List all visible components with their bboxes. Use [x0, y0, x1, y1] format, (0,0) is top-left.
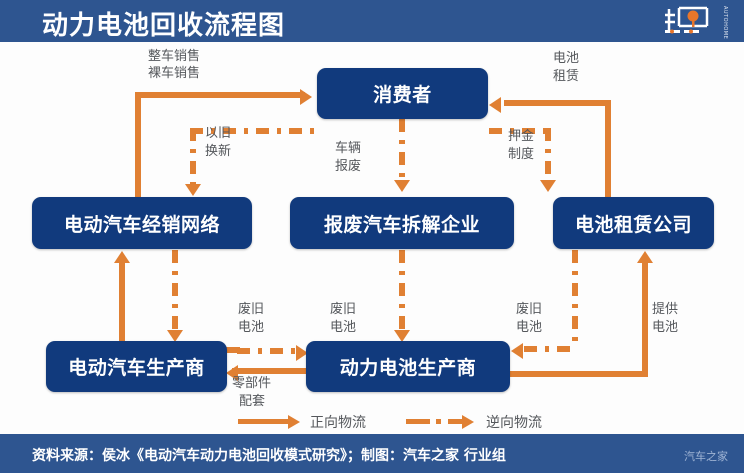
footer-bar: 资料来源：侯冰《电动汽车动力电池回收模式研究》；制图：汽车之家 行业组 汽车之家: [0, 434, 744, 473]
flowchart-canvas: 动力电池回收流程图: [0, 0, 744, 473]
label-waste-battery-a-line2: 电池: [238, 319, 264, 336]
legend: 正向物流 逆向物流: [238, 412, 558, 432]
logo-mark-icon: [664, 6, 712, 36]
label-waste-battery-b-line2: 电池: [330, 319, 356, 336]
edge-evmaker-to-dealer-vertical: [119, 262, 125, 344]
edge-dealer-to-consumer-arrowhead: [300, 89, 312, 105]
edge-waste-battery-b-arrowhead: [511, 343, 523, 359]
label-tradein-line1: 以旧: [205, 125, 231, 142]
node-consumer[interactable]: 消费者: [317, 68, 488, 119]
label-waste-battery-a-line1: 废旧: [238, 301, 264, 318]
edge-waste-battery-b-vertical: [572, 250, 578, 346]
edge-battery-lease-vertical: [605, 100, 611, 200]
edge-battery-lease-horizontal: [504, 100, 611, 106]
edge-tradein-arrowhead: [185, 184, 201, 196]
node-battery-manufacturer[interactable]: 动力电池生产商: [306, 341, 510, 392]
edge-evmaker-to-dealer-arrowhead: [114, 251, 130, 263]
edge-deposit-vertical: [545, 128, 551, 182]
edge-vehicle-scrap-arrowhead: [394, 180, 410, 192]
label-parts-supply-line2: 配套: [239, 393, 265, 410]
legend-reverse-label: 逆向物流: [486, 412, 542, 432]
label-waste-battery-c-line2: 电池: [516, 319, 542, 336]
edge-deposit-arrowhead: [540, 180, 556, 192]
page-title: 动力电池回收流程图: [42, 5, 285, 42]
legend-reverse-dot: [436, 419, 441, 424]
node-ev-manufacturer[interactable]: 电动汽车生产商: [46, 341, 227, 392]
label-waste-battery-c-line1: 废旧: [516, 301, 542, 318]
label-vehicle-sales-line2: 裸车销售: [148, 65, 200, 82]
label-tradein-line2: 换新: [205, 143, 231, 160]
node-dismantling-enterprise[interactable]: 报废汽车拆解企业: [290, 197, 514, 249]
edge-waste-battery-a-horizontal: [237, 348, 299, 354]
legend-forward-label: 正向物流: [310, 412, 366, 432]
label-deposit-line2: 制度: [508, 146, 534, 163]
edge-vehicle-scrap-vertical: [399, 119, 405, 181]
watermark-text: 汽车之家: [684, 448, 728, 464]
node-dealer-network[interactable]: 电动汽车经销网络: [32, 197, 252, 249]
autohome-logo: AUTOHOME: [664, 4, 726, 38]
logo-side-text: AUTOHOME: [722, 6, 728, 39]
legend-forward-arrowhead-icon: [288, 415, 300, 429]
label-deposit-line1: 押金: [508, 128, 534, 145]
label-vehicle-scrap-line2: 报废: [335, 158, 361, 175]
label-supply-battery-line2: 电池: [652, 319, 678, 336]
label-supply-battery-line1: 提供: [652, 301, 678, 318]
edge-dismantle-to-batmaker-vertical: [399, 250, 405, 332]
label-battery-lease-line1: 电池: [553, 50, 579, 67]
label-vehicle-sales-line1: 整车销售: [148, 48, 200, 65]
edge-supply-battery-horizontal: [510, 371, 648, 377]
edge-supply-battery-vertical: [642, 262, 648, 374]
label-parts-supply-line1: 零部件: [232, 375, 271, 392]
legend-reverse-dash-a: [406, 419, 430, 424]
label-vehicle-scrap-line1: 车辆: [335, 140, 361, 157]
legend-forward-line: [238, 419, 290, 424]
source-text: 资料来源：侯冰《电动汽车动力电池回收模式研究》；制图：汽车之家 行业组: [32, 445, 506, 465]
edge-waste-battery-b-horizontal: [524, 346, 576, 352]
label-battery-lease-line2: 租赁: [553, 68, 579, 85]
label-waste-battery-b-line1: 废旧: [330, 301, 356, 318]
edge-parts-supply-horizontal: [232, 368, 314, 374]
edge-battery-lease-arrowhead: [489, 97, 501, 113]
edge-dealer-to-evmaker-vertical: [172, 250, 178, 332]
edge-dealer-to-consumer-horizontal: [135, 92, 305, 98]
node-battery-rental-company[interactable]: 电池租赁公司: [553, 197, 714, 249]
edge-dealer-to-consumer-vertical: [135, 92, 141, 200]
edge-tradein-vertical: [190, 128, 196, 186]
edge-supply-battery-arrowhead: [637, 251, 653, 263]
header-bar: 动力电池回收流程图: [0, 0, 744, 42]
legend-reverse-arrowhead-icon: [462, 415, 474, 429]
